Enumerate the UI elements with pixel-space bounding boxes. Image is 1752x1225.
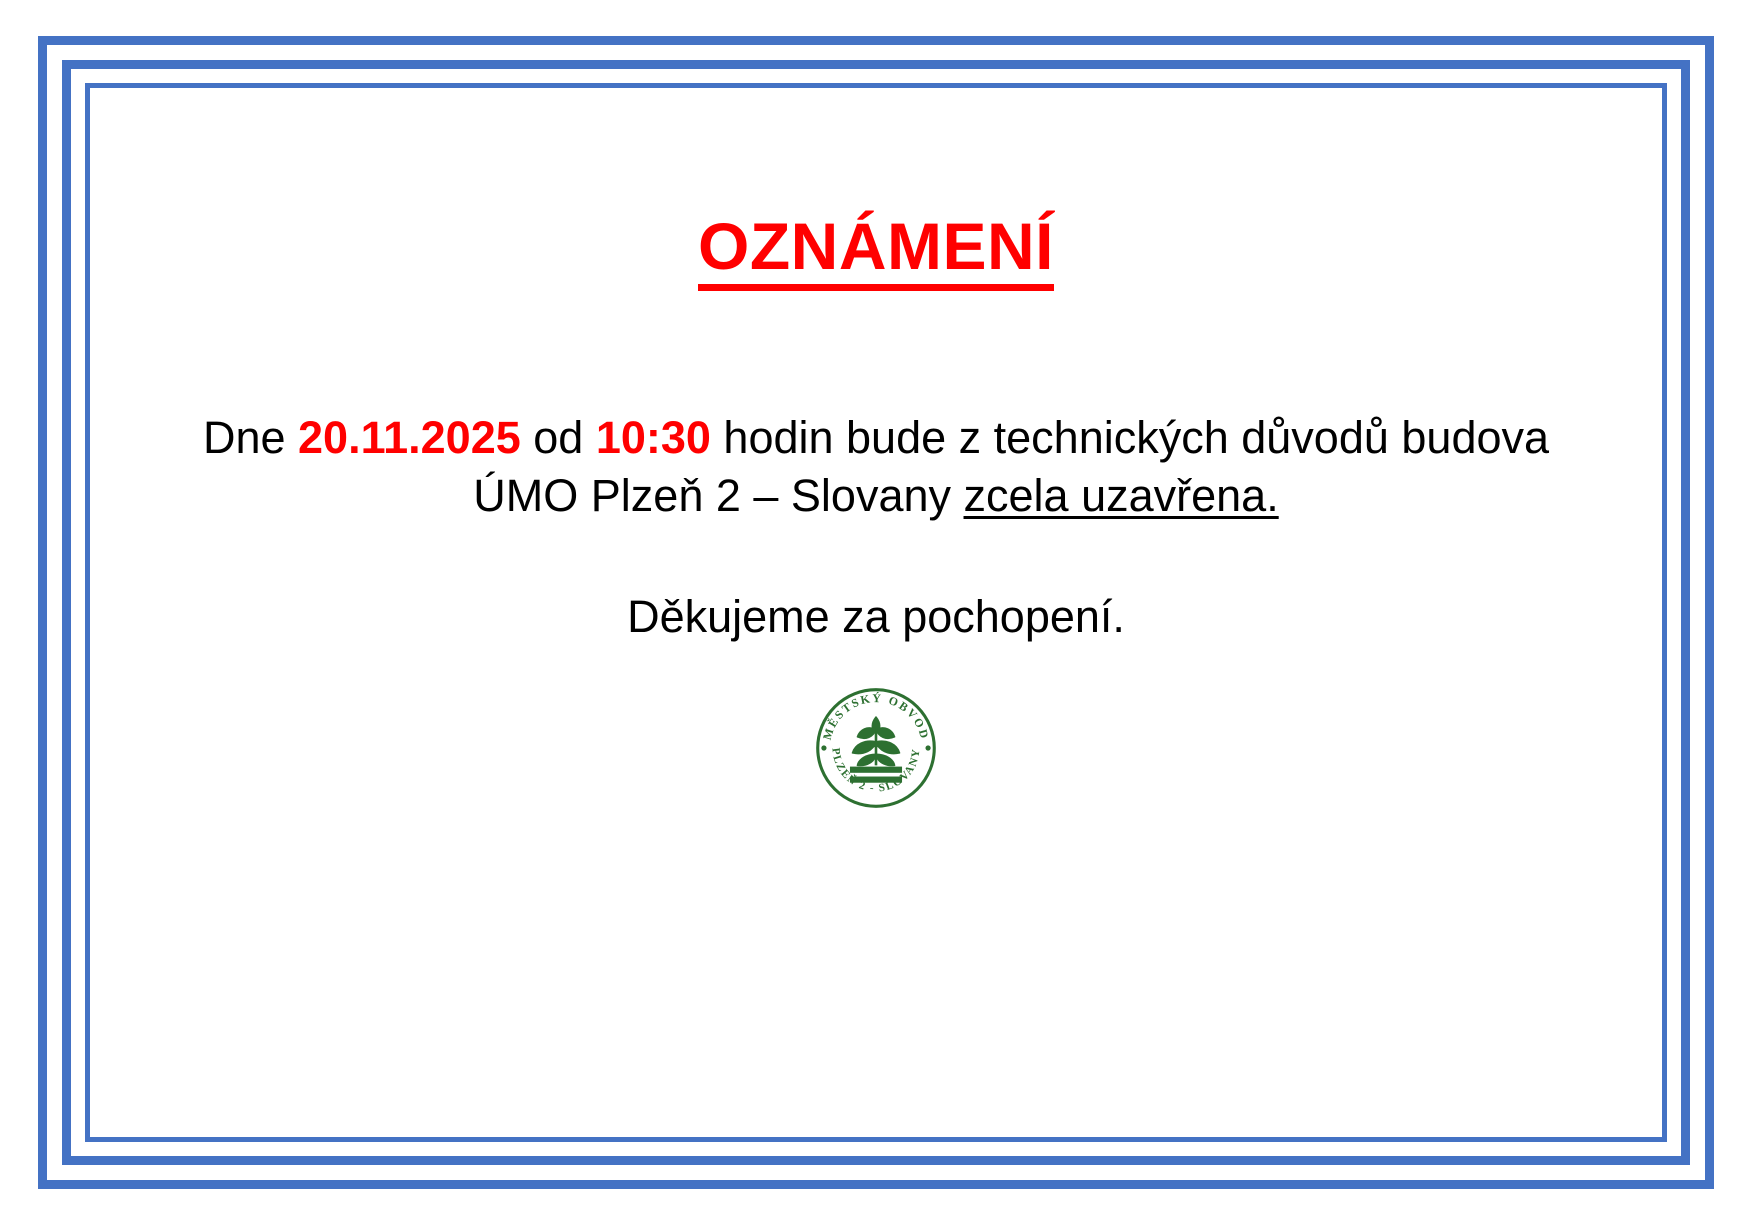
notice-page: OZNÁMENÍ Dne 20.11.2025 od 10:30 hodin b…	[0, 0, 1752, 1225]
page-title: OZNÁMENÍ	[96, 212, 1656, 291]
notice-date-value: 20.11.2025	[298, 412, 521, 463]
notice-text-segment: ÚMO Plzeň 2 – Slovany	[473, 470, 963, 521]
logo-container: MĚSTSKÝ OBVOD PLZEŇ 2 - SLOVANY	[96, 686, 1656, 810]
notice-text-segment: hodin bude z technických důvodů budova	[711, 412, 1549, 463]
municipality-seal-icon: MĚSTSKÝ OBVOD PLZEŇ 2 - SLOVANY	[814, 686, 938, 810]
notice-text-segment: od	[521, 412, 596, 463]
notice-emphasis-closed: zcela uzavřena.	[964, 470, 1279, 521]
notice-body: Dne 20.11.2025 od 10:30 hodin bude z tec…	[96, 409, 1656, 524]
notice-content: OZNÁMENÍ Dne 20.11.2025 od 10:30 hodin b…	[96, 90, 1656, 1135]
notice-text-segment: Dne	[203, 412, 298, 463]
notice-body-line-2: ÚMO Plzeň 2 – Slovany zcela uzavřena.	[96, 467, 1656, 525]
notice-thanks-line: Děkujeme za pochopení.	[96, 588, 1656, 646]
notice-time-value: 10:30	[596, 412, 711, 463]
page-title-text: OZNÁMENÍ	[698, 212, 1054, 291]
notice-body-line-1: Dne 20.11.2025 od 10:30 hodin bude z tec…	[96, 409, 1656, 467]
